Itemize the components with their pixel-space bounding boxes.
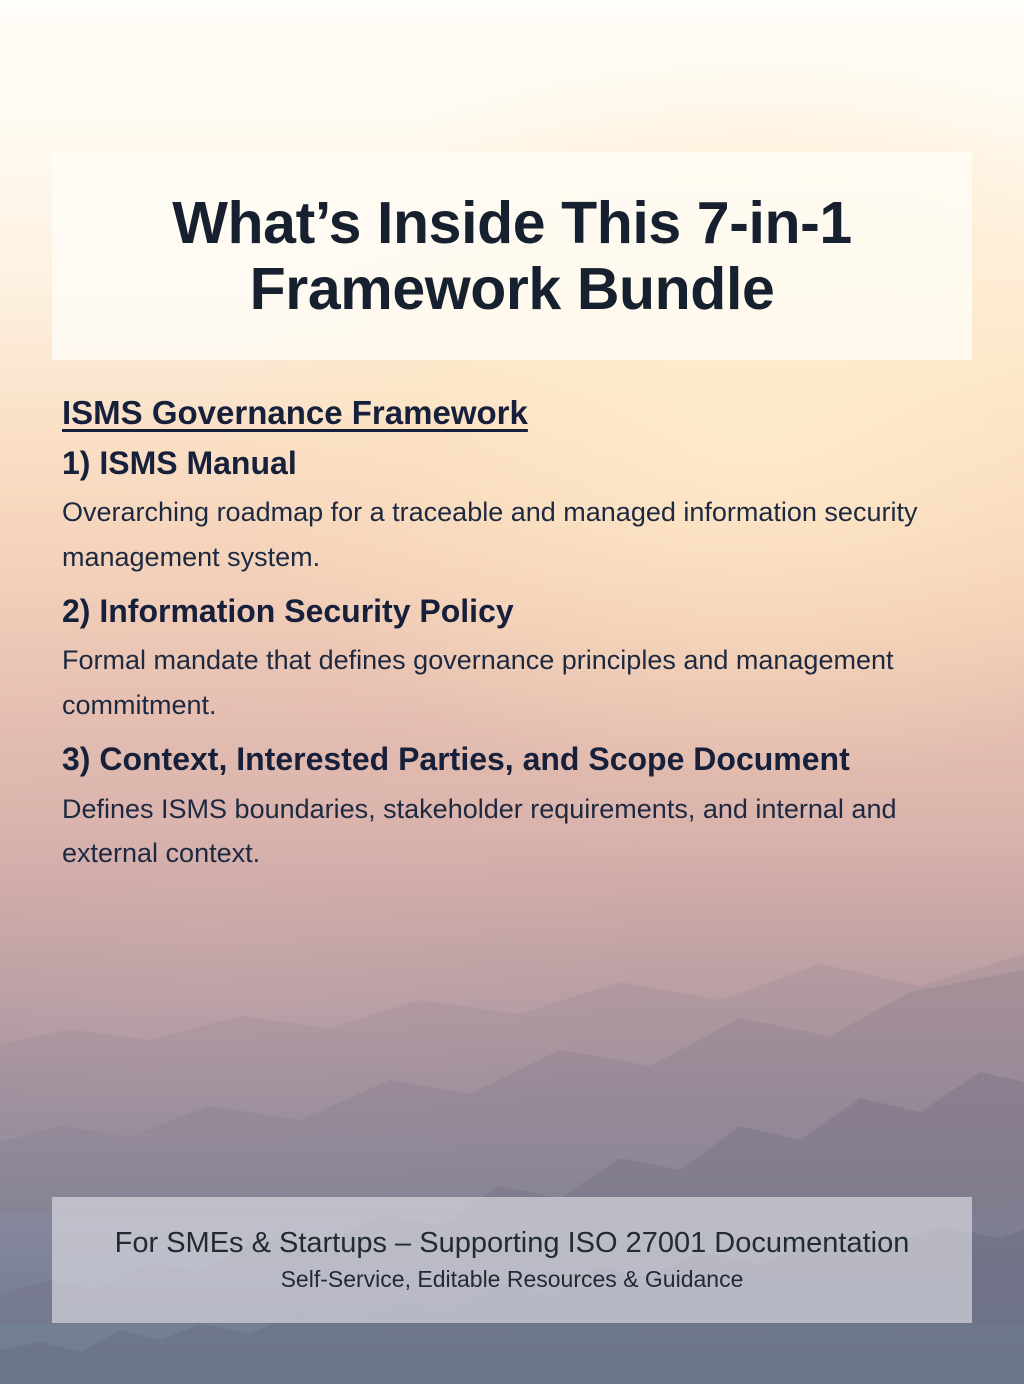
title-card: What’s Inside This 7-in-1 Framework Bund… — [52, 152, 972, 360]
item-description-context-interested-parties-scope: Defines ISMS boundaries, stakeholder req… — [62, 787, 972, 877]
content-body: ISMS Governance Framework 1) ISMS Manual… — [62, 392, 972, 887]
item-title-context-interested-parties-scope: 3) Context, Interested Parties, and Scop… — [62, 739, 972, 781]
item-title-isms-manual: 1) ISMS Manual — [62, 443, 972, 485]
footer-band: For SMEs & Startups – Supporting ISO 270… — [52, 1197, 972, 1323]
page-title: What’s Inside This 7-in-1 Framework Bund… — [80, 190, 944, 322]
item-description-isms-manual: Overarching roadmap for a traceable and … — [62, 490, 972, 580]
item-description-information-security-policy: Formal mandate that defines governance p… — [62, 638, 972, 728]
section-heading-isms-governance-framework: ISMS Governance Framework — [62, 392, 972, 434]
footer-primary-text: For SMEs & Startups – Supporting ISO 270… — [115, 1225, 910, 1261]
footer-secondary-text: Self-Service, Editable Resources & Guida… — [281, 1265, 744, 1295]
item-title-information-security-policy: 2) Information Security Policy — [62, 591, 972, 633]
poster-canvas: What’s Inside This 7-in-1 Framework Bund… — [0, 0, 1024, 1384]
